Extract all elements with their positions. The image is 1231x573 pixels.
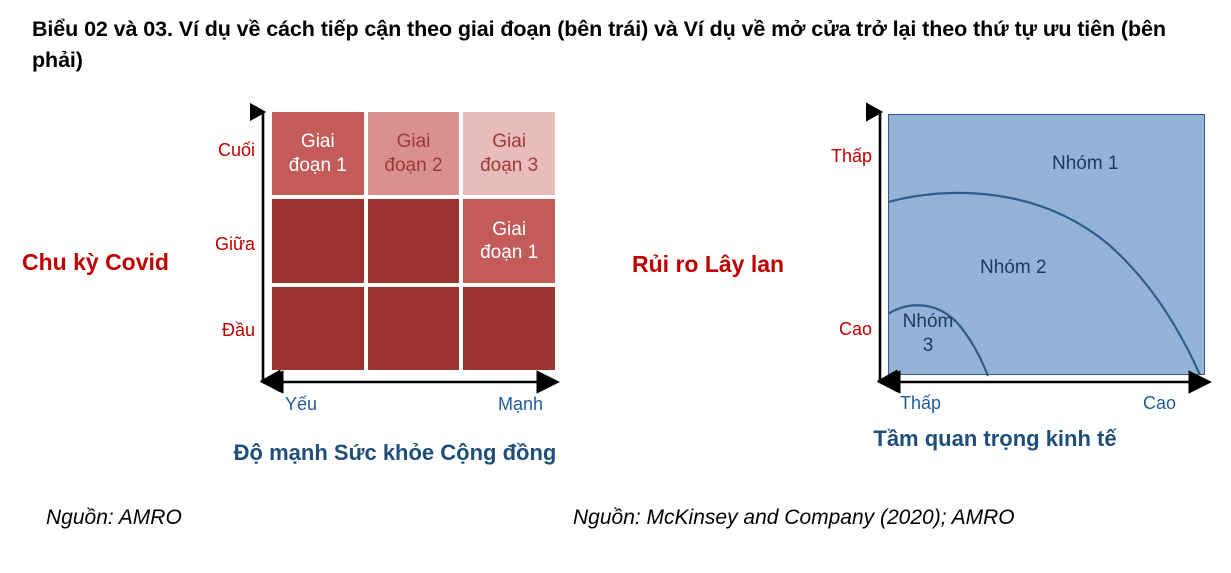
risk-x-tick-high: Cao	[1143, 393, 1176, 414]
zone-label-group-3: Nhóm 3	[895, 310, 961, 358]
risk-x-axis-caption: Tầm quan trọng kinh tế	[790, 426, 1200, 452]
zone-label-group-2: Nhóm 2	[980, 256, 1047, 280]
risk-y-tick-high: Cao	[790, 319, 872, 340]
risk-y-axis-title: Rủi ro Lây lan	[632, 251, 784, 278]
priority-reopening-diagram: Rủi ro Lây lan Thấp Cao Nhóm 1 Nhóm 2 Nh…	[0, 0, 1231, 573]
zone-label-group-1: Nhóm 1	[1052, 152, 1119, 176]
zone-label-group-3-line2: 3	[923, 335, 934, 356]
zone-label-group-2-line1: Nhóm 2	[980, 257, 1047, 278]
zone-label-group-3-line1: Nhóm	[903, 311, 954, 332]
zone-label-group-1-line1: Nhóm 1	[1052, 153, 1119, 174]
risk-y-tick-low: Thấp	[790, 146, 872, 167]
source-note-right: Nguồn: McKinsey and Company (2020); AMRO	[573, 506, 1015, 530]
risk-x-tick-low: Thấp	[900, 393, 941, 414]
